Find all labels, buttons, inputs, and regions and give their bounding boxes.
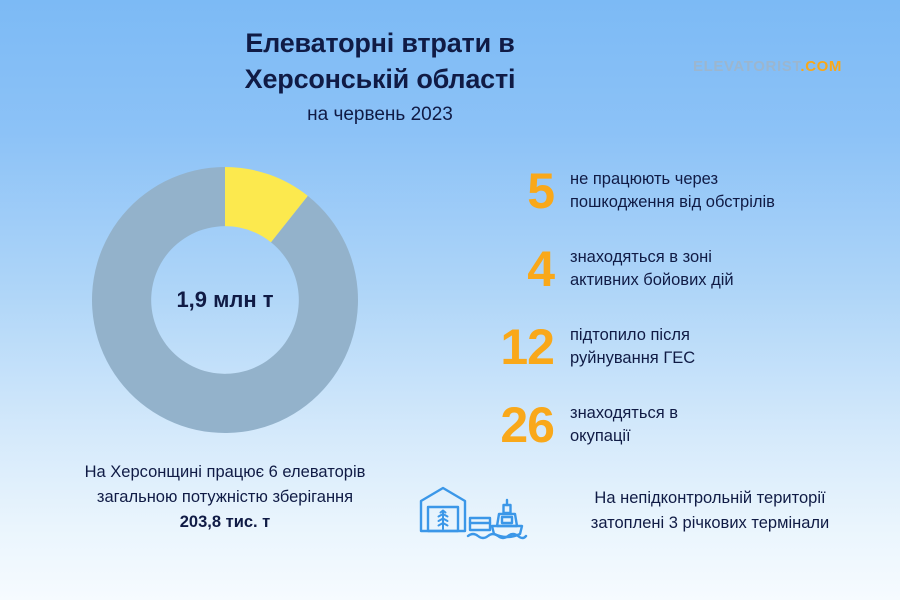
donut-slice-grey [92, 167, 358, 433]
stat-description-line-2: пошкодження від обстрілів [570, 191, 775, 214]
stat-description-line-2: руйнування ГЕС [570, 347, 695, 370]
stat-description: підтопило після руйнування ГЕС [570, 324, 695, 371]
stat-row-flooded: 12 підтопило після руйнування ГЕС [470, 308, 890, 386]
granary-and-ship-icon-svg [418, 484, 528, 546]
stat-description-line-2: окупації [570, 425, 678, 448]
stat-description-line-1: підтопило після [570, 324, 695, 347]
donut-chart-svg [90, 165, 360, 435]
stat-description-line-2: активних бойових дій [570, 269, 734, 292]
water-waves-icon [468, 534, 526, 538]
stat-description-line-1: знаходяться в [570, 402, 678, 425]
stat-description: знаходяться в окупації [570, 402, 678, 449]
page-title: Елеваторні втрати в Херсонській області … [140, 26, 620, 127]
stat-number: 5 [470, 166, 570, 216]
footer-right-line-2: затоплені 3 річкових термінали [540, 511, 880, 536]
footer-left-line-1: На Херсонщині працює 6 елеваторів [30, 460, 420, 485]
stat-description: не працюють через пошкодження від обстрі… [570, 168, 775, 215]
stat-row-damaged: 5 не працюють через пошкодження від обст… [470, 152, 890, 230]
stat-row-occupied: 26 знаходяться в окупації [470, 386, 890, 464]
stat-description: знаходяться в зоні активних бойових дій [570, 246, 734, 293]
footer-capacity-note: На Херсонщині працює 6 елеваторів загаль… [30, 460, 420, 534]
wheat-ear-icon [439, 511, 448, 530]
stats-list: 5 не працюють через пошкодження від обст… [470, 152, 890, 464]
elevatorist-logo[interactable]: ELEVATORIST.COM [693, 58, 842, 75]
footer-left-line-2: загальною потужністю зберігання [30, 485, 420, 510]
title-subtitle: на червень 2023 [140, 104, 620, 127]
stat-description-line-1: знаходяться в зоні [570, 246, 734, 269]
stat-number: 12 [470, 322, 570, 372]
infographic-canvas: Елеваторні втрати в Херсонській області … [0, 0, 900, 600]
stat-number: 26 [470, 400, 570, 450]
ship-funnel-icon [504, 505, 511, 513]
ship-superstructure-icon [497, 514, 517, 526]
ship-bridge-icon [502, 517, 512, 523]
title-line-1: Елеваторні втрати в [140, 26, 620, 62]
stat-row-combat-zone: 4 знаходяться в зоні активних бойових ді… [470, 230, 890, 308]
footer-flooded-terminals-note: На непідконтрольній території затоплені … [540, 486, 880, 536]
logo-tld-text: .COM [800, 58, 842, 75]
title-line-2: Херсонській області [140, 62, 620, 98]
logo-name-text: ELEVATORIST [693, 58, 800, 75]
footer-right-line-1: На непідконтрольній території [540, 486, 880, 511]
footer-left-capacity-value: 203,8 тис. т [30, 510, 420, 535]
granary-and-ship-icon [418, 484, 528, 546]
stat-number: 4 [470, 244, 570, 294]
donut-chart: 1,9 млн т [90, 165, 360, 435]
stat-description-line-1: не працюють через [570, 168, 775, 191]
